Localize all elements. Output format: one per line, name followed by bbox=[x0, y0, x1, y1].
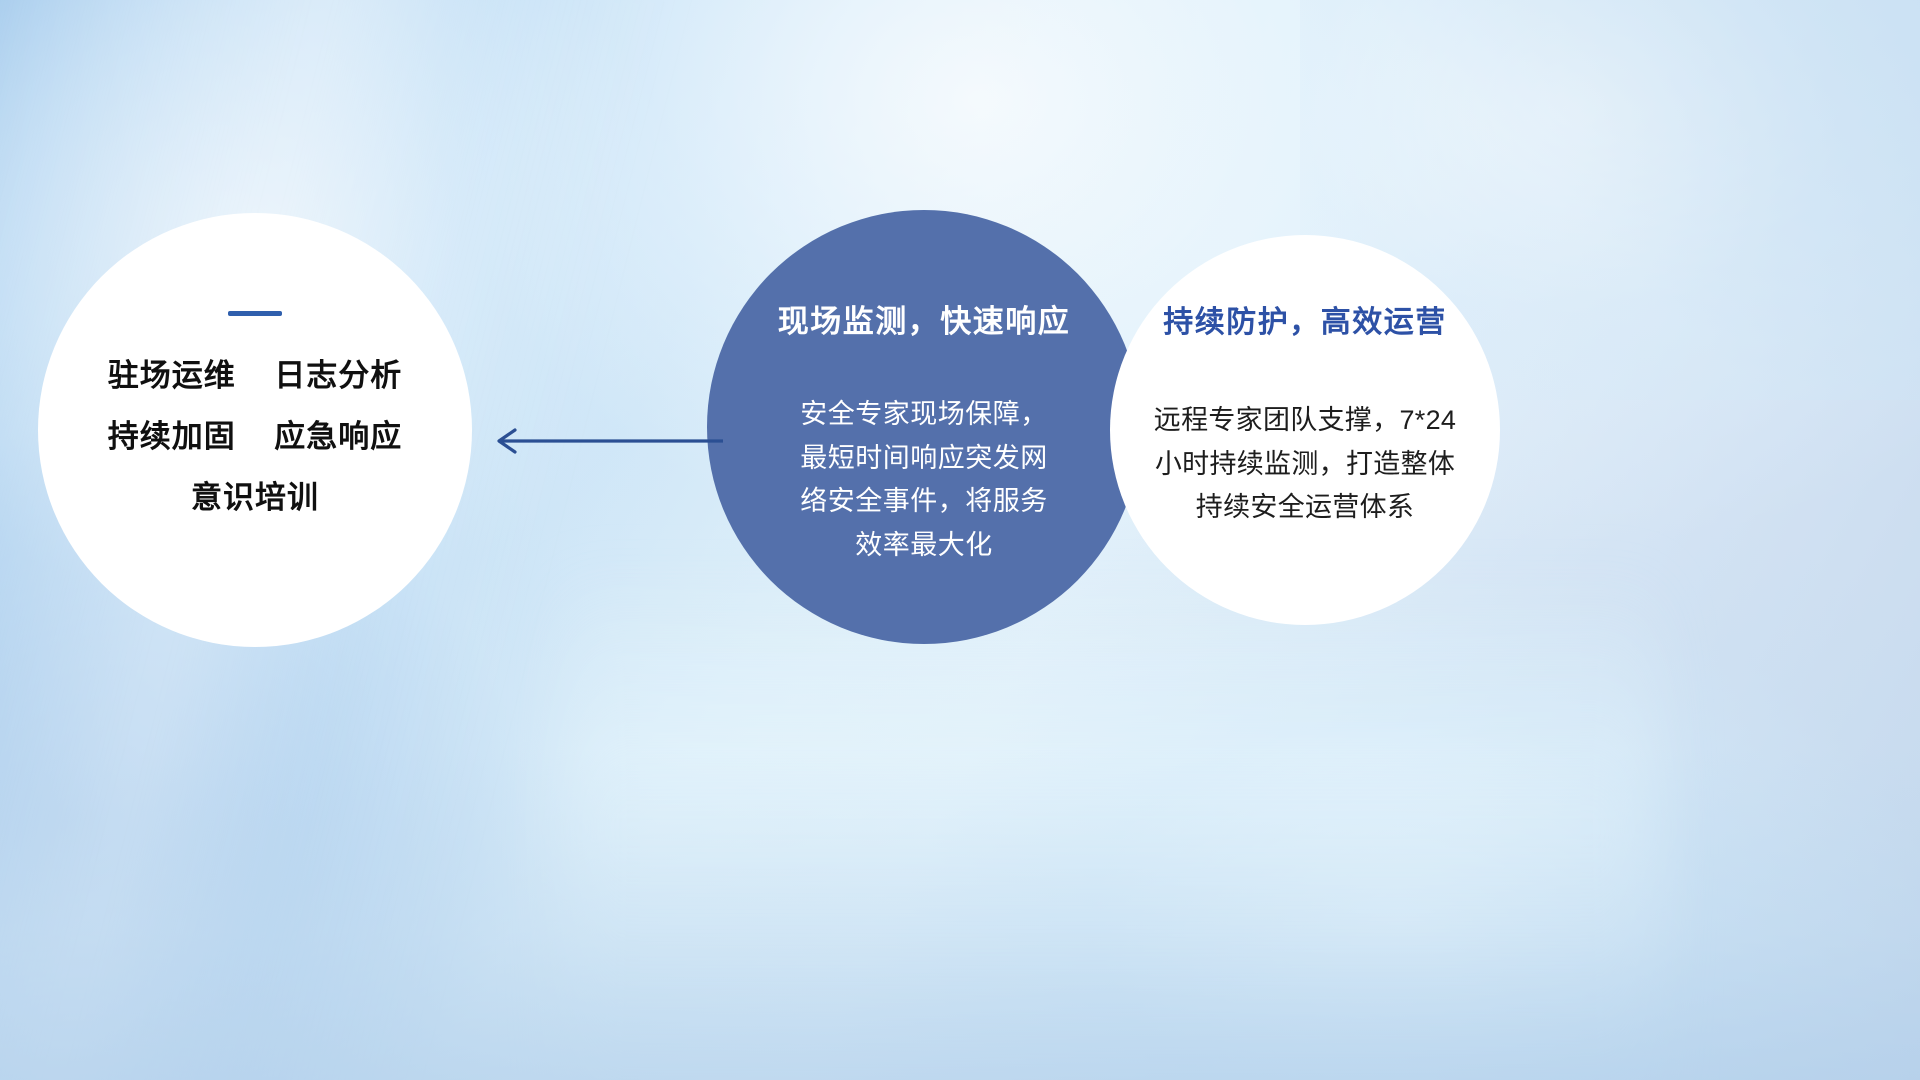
body-line: 效率最大化 bbox=[779, 524, 1069, 568]
circle-onsite-monitoring-title: 现场监测，快速响应 bbox=[778, 296, 1071, 341]
circle-service-capabilities: 驻场运维 日志分析 持续加固 应急响应 意识培训 bbox=[38, 213, 472, 647]
blue-dash-divider-icon bbox=[228, 311, 282, 316]
circle-onsite-monitoring: 现场监测，快速响应 安全专家现场保障， 最短时间响应突发网 络安全事件，将服务 … bbox=[707, 210, 1141, 644]
capability-line: 持续加固 应急响应 bbox=[108, 421, 402, 452]
left-arrow-icon bbox=[485, 420, 725, 462]
circle-onsite-monitoring-body: 安全专家现场保障， 最短时间响应突发网 络安全事件，将服务 效率最大化 bbox=[779, 393, 1069, 568]
capability-line: 意识培训 bbox=[191, 482, 319, 513]
circle-onsite-monitoring-content: 现场监测，快速响应 安全专家现场保障， 最短时间响应突发网 络安全事件，将服务 … bbox=[707, 210, 1141, 644]
circle-continuous-protection: 持续防护，高效运营 远程专家团队支撑，7*24 小时持续监测，打造整体 持续安全… bbox=[1110, 235, 1500, 625]
circle-continuous-protection-title: 持续防护，高效运营 bbox=[1163, 297, 1447, 341]
circle-service-capabilities-content: 驻场运维 日志分析 持续加固 应急响应 意识培训 bbox=[38, 213, 472, 647]
capability-line: 驻场运维 日志分析 bbox=[108, 360, 402, 391]
body-line: 小时持续监测，打造整体 bbox=[1125, 443, 1485, 487]
body-line: 持续安全运营体系 bbox=[1125, 486, 1485, 530]
circle-continuous-protection-body: 远程专家团队支撑，7*24 小时持续监测，打造整体 持续安全运营体系 bbox=[1125, 399, 1485, 530]
body-line: 远程专家团队支撑，7*24 bbox=[1125, 399, 1485, 443]
body-line: 最短时间响应突发网 bbox=[779, 437, 1069, 481]
body-line: 络安全事件，将服务 bbox=[779, 480, 1069, 524]
slide-canvas: 现场监测，快速响应 安全专家现场保障， 最短时间响应突发网 络安全事件，将服务 … bbox=[0, 0, 1920, 1080]
background-bottom-haze bbox=[0, 750, 1920, 1080]
circle-continuous-protection-content: 持续防护，高效运营 远程专家团队支撑，7*24 小时持续监测，打造整体 持续安全… bbox=[1110, 235, 1500, 625]
body-line: 安全专家现场保障， bbox=[779, 393, 1069, 437]
